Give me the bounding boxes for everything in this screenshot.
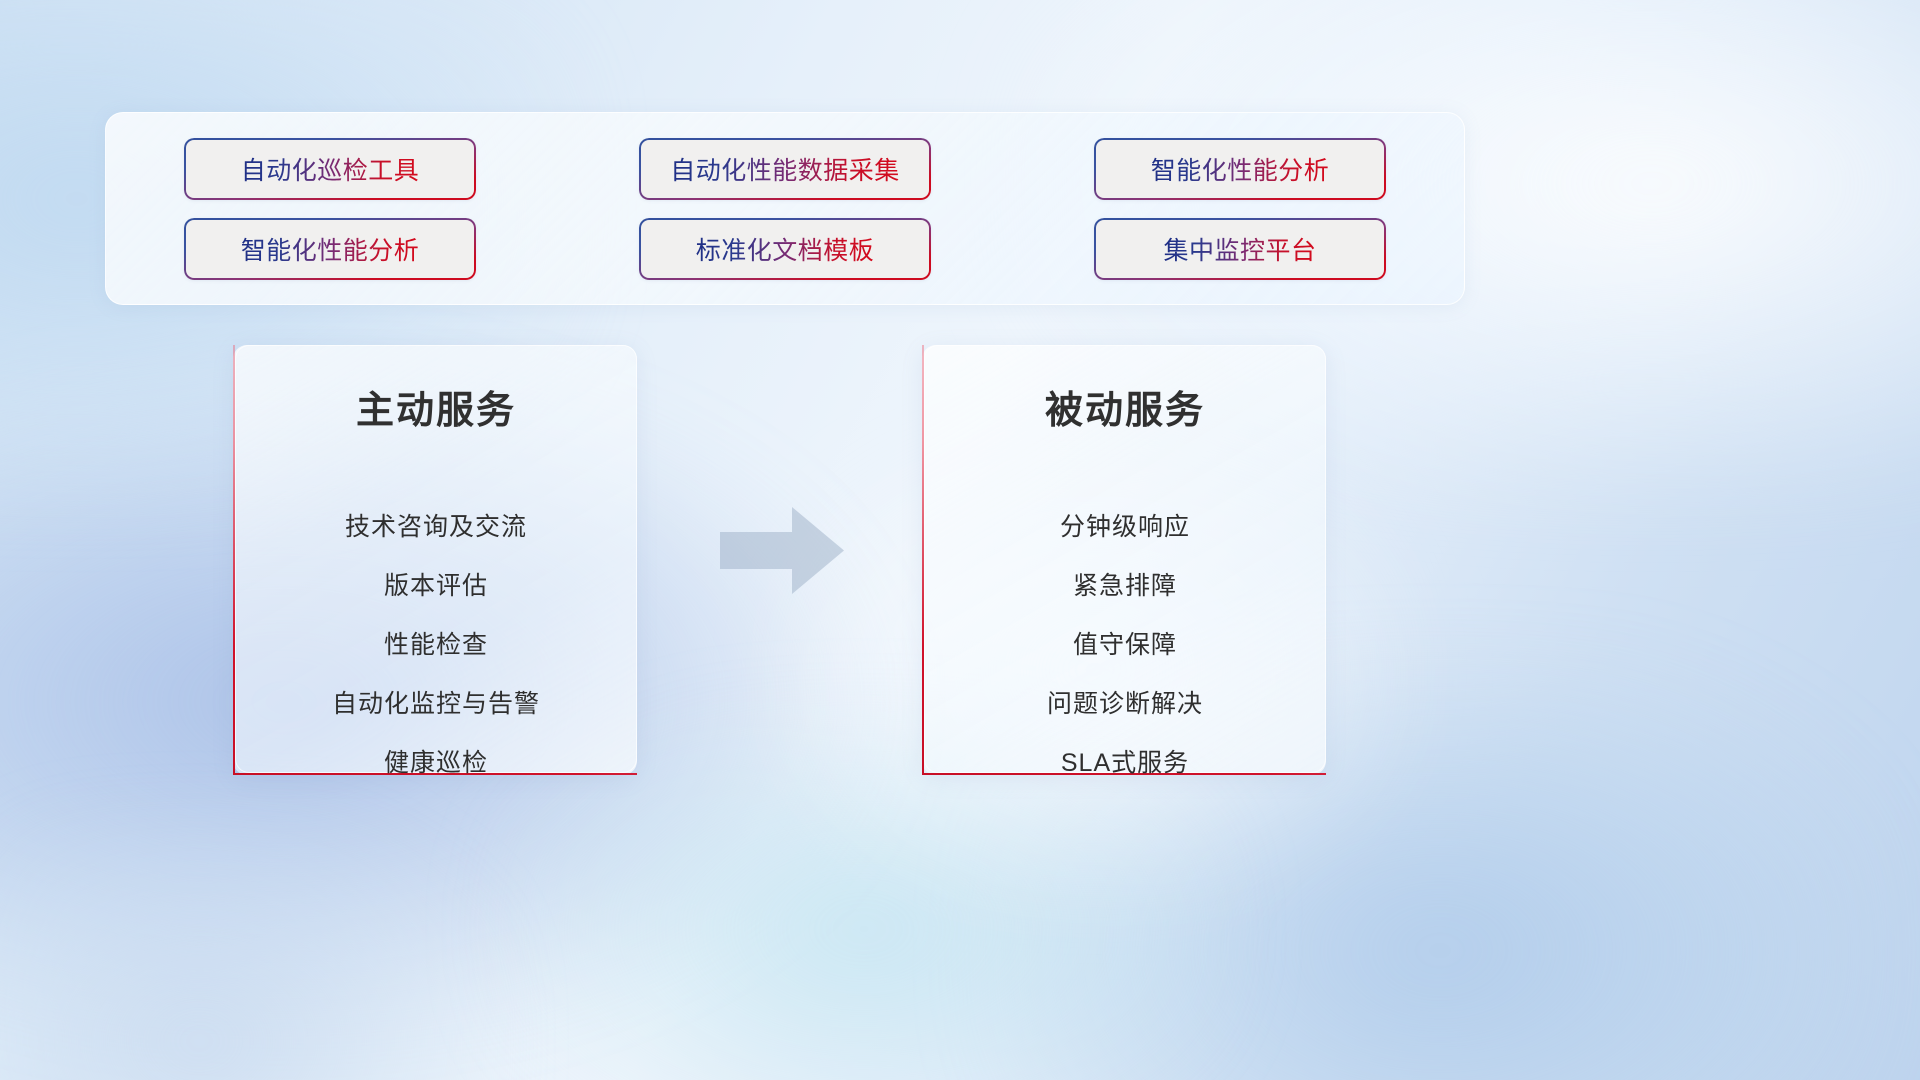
card-title: 被动服务 <box>1045 379 1205 434</box>
right-arrow-icon <box>716 503 848 598</box>
card-item-list: 技术咨询及交流 版本评估 性能检查 自动化监控与告警 健康巡检 <box>255 498 617 793</box>
capabilities-panel: 自动化巡检工具 自动化性能数据采集 智能化性能分析 智能化性能分析 标准化文档模… <box>105 112 1465 305</box>
capability-pill[interactable]: 智能化性能分析 <box>184 218 476 280</box>
list-item[interactable]: 版本评估 <box>384 557 488 616</box>
capabilities-row-1: 自动化巡检工具 自动化性能数据采集 智能化性能分析 <box>184 138 1386 200</box>
list-item[interactable]: 技术咨询及交流 <box>345 498 527 557</box>
list-item[interactable]: 紧急排障 <box>1073 557 1177 616</box>
capability-pill-label: 自动化性能数据采集 <box>670 151 900 187</box>
capability-pill[interactable]: 标准化文档模板 <box>639 218 931 280</box>
list-item[interactable]: 性能检查 <box>384 616 488 675</box>
capability-pill-label: 智能化性能分析 <box>241 231 420 267</box>
background-glow-bottomleft <box>0 821 499 1080</box>
service-card-reactive: 被动服务 分钟级响应 紧急排障 值守保障 问题诊断解决 SLA式服务 <box>922 345 1326 775</box>
capability-pill-label: 集中监控平台 <box>1163 231 1316 267</box>
capabilities-row-2: 智能化性能分析 标准化文档模板 集中监控平台 <box>184 218 1386 280</box>
capability-pill-label: 标准化文档模板 <box>696 231 875 267</box>
capability-pill[interactable]: 自动化性能数据采集 <box>639 138 931 200</box>
list-item[interactable]: SLA式服务 <box>1061 734 1189 793</box>
card-title: 主动服务 <box>356 379 516 434</box>
capability-pill[interactable]: 自动化巡检工具 <box>184 138 476 200</box>
list-item[interactable]: 分钟级响应 <box>1060 498 1190 557</box>
list-item[interactable]: 自动化监控与告警 <box>332 675 540 734</box>
capability-pill-label: 智能化性能分析 <box>1151 151 1330 187</box>
list-item[interactable]: 问题诊断解决 <box>1047 675 1203 734</box>
card-item-list: 分钟级响应 紧急排障 值守保障 问题诊断解决 SLA式服务 <box>944 498 1306 793</box>
capability-pill[interactable]: 智能化性能分析 <box>1094 138 1386 200</box>
list-item[interactable]: 值守保障 <box>1073 616 1177 675</box>
capability-pill-label: 自动化巡检工具 <box>241 151 420 187</box>
capability-pill[interactable]: 集中监控平台 <box>1094 218 1386 280</box>
list-item[interactable]: 健康巡检 <box>384 734 488 793</box>
service-card-proactive: 主动服务 技术咨询及交流 版本评估 性能检查 自动化监控与告警 健康巡检 <box>233 345 637 775</box>
